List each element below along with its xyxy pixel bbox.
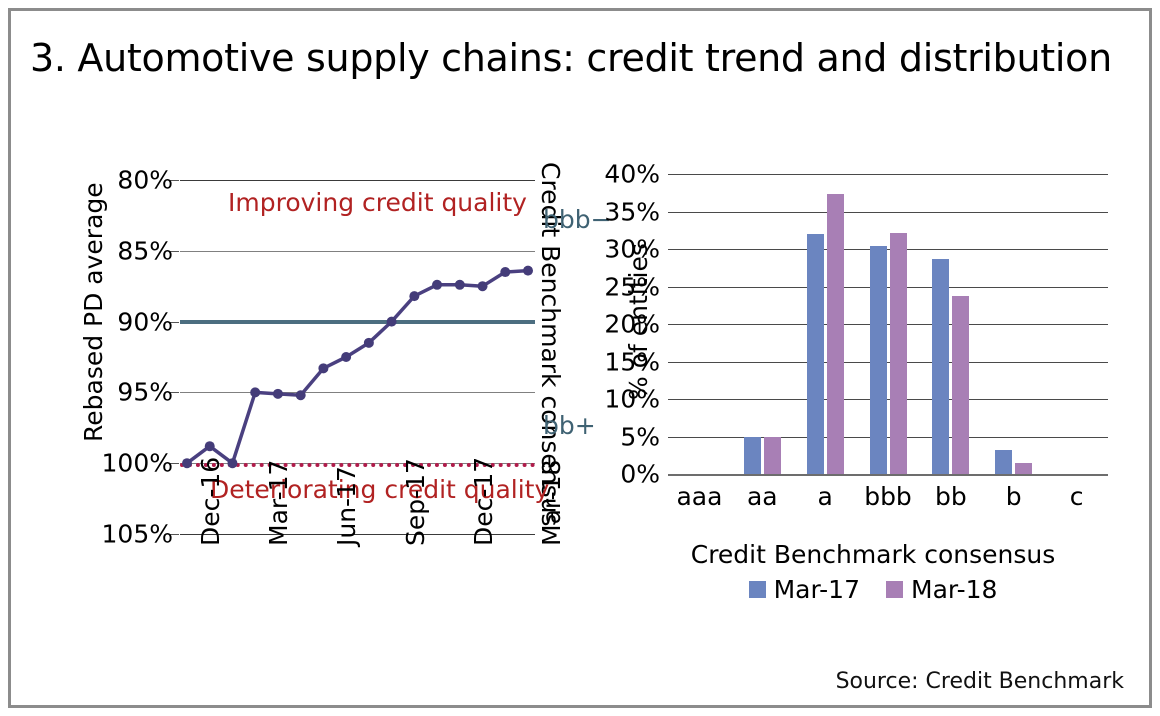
page-title: 3. Automotive supply chains: credit tren… bbox=[30, 36, 1112, 80]
bar-chart-y-tick-label: 20% bbox=[604, 310, 660, 339]
bar-chart-y-tick-label: 15% bbox=[604, 347, 660, 376]
line-chart-y-tick-label: 80% bbox=[117, 166, 173, 195]
bar-chart-category-label: a bbox=[817, 482, 832, 511]
bar-chart-gridline bbox=[668, 249, 1108, 250]
bar-bbb-mar-18 bbox=[890, 233, 907, 474]
bar-chart-y-tick-label: 40% bbox=[604, 160, 660, 189]
line-chart-x-tick-label: Jun-17 bbox=[332, 466, 361, 546]
bar-b-mar-18 bbox=[1015, 463, 1032, 474]
bar-chart-gridline bbox=[668, 324, 1108, 325]
line-chart-x-tick-label: Dec-16 bbox=[196, 457, 225, 546]
bar-chart-category-label: aa bbox=[747, 482, 778, 511]
bar-chart: % of entities 0%5%10%15%20%25%30%35%40%a… bbox=[608, 150, 1138, 620]
bar-chart-category-label: b bbox=[1006, 482, 1022, 511]
legend-label: Mar-17 bbox=[774, 575, 860, 604]
bar-chart-gridline bbox=[668, 474, 1108, 476]
bar-chart-legend: Mar-17Mar-18 bbox=[608, 575, 1138, 604]
line-chart-x-tick-label: Dec-17 bbox=[469, 457, 498, 546]
legend-swatch-icon bbox=[749, 581, 766, 598]
bar-bb-mar-18 bbox=[952, 296, 969, 475]
line-chart-y-tick-label: 105% bbox=[102, 520, 173, 549]
bar-chart-gridline bbox=[668, 174, 1108, 175]
bar-a-mar-17 bbox=[807, 234, 824, 474]
chart-page: 3. Automotive supply chains: credit tren… bbox=[0, 0, 1160, 716]
bar-b-mar-17 bbox=[995, 450, 1012, 474]
bar-chart-y-tick-label: 10% bbox=[604, 385, 660, 414]
line-chart-x-tick-label: Mar-18 bbox=[537, 460, 566, 546]
bar-aa-mar-17 bbox=[744, 437, 761, 475]
bar-chart-gridline bbox=[668, 287, 1108, 288]
bar-chart-plot-area: 0%5%10%15%20%25%30%35%40%aaaaaabbbbbbc bbox=[668, 174, 1108, 474]
line-chart: Rebased PD average Credit Benchmark cons… bbox=[55, 150, 615, 650]
line-chart-y-tick-label: 95% bbox=[117, 378, 173, 407]
bar-a-mar-18 bbox=[827, 194, 844, 474]
legend-item-mar-18[interactable]: Mar-18 bbox=[886, 575, 997, 604]
bar-chart-gridline bbox=[668, 437, 1108, 438]
line-chart-y-tick-label: 100% bbox=[102, 449, 173, 478]
bar-bbb-mar-17 bbox=[870, 246, 887, 474]
bar-chart-y-tick-label: 35% bbox=[604, 197, 660, 226]
bar-chart-category-label: bb bbox=[935, 482, 967, 511]
bar-chart-gridline bbox=[668, 362, 1108, 363]
line-chart-y-tick-label: 85% bbox=[117, 236, 173, 265]
bar-chart-y-tick-label: 30% bbox=[604, 235, 660, 264]
bar-chart-gridline bbox=[668, 399, 1108, 400]
bar-chart-category-label: aaa bbox=[676, 482, 722, 511]
bar-chart-category-label: c bbox=[1070, 482, 1084, 511]
bar-chart-gridline bbox=[668, 212, 1108, 213]
line-chart-y-tick-label: 90% bbox=[117, 307, 173, 336]
bar-chart-y-tick-label: 5% bbox=[620, 422, 660, 451]
bar-aa-mar-18 bbox=[764, 437, 781, 475]
legend-item-mar-17[interactable]: Mar-17 bbox=[749, 575, 860, 604]
source-note: Source: Credit Benchmark bbox=[836, 669, 1124, 694]
bar-bb-mar-17 bbox=[932, 259, 949, 474]
legend-swatch-icon bbox=[886, 581, 903, 598]
line-chart-x-tick-label: Mar-17 bbox=[264, 460, 293, 546]
bar-chart-category-label: bbb bbox=[864, 482, 912, 511]
benchmark-tag-bbb-minus: bbb− bbox=[543, 205, 612, 234]
line-chart-plot-area: 80%85%90%95%100%105%bbb−bb+Improving cre… bbox=[180, 180, 535, 534]
legend-label: Mar-18 bbox=[911, 575, 997, 604]
line-chart-y-axis-label: Rebased PD average bbox=[79, 182, 108, 442]
bar-chart-x-axis-label: Credit Benchmark consensus bbox=[608, 540, 1138, 569]
benchmark-tag-bb-plus: bb+ bbox=[543, 411, 596, 440]
line-chart-x-tick-label: Sep-17 bbox=[401, 458, 430, 546]
bar-chart-y-tick-label: 0% bbox=[620, 460, 660, 489]
bar-chart-y-tick-label: 25% bbox=[604, 272, 660, 301]
